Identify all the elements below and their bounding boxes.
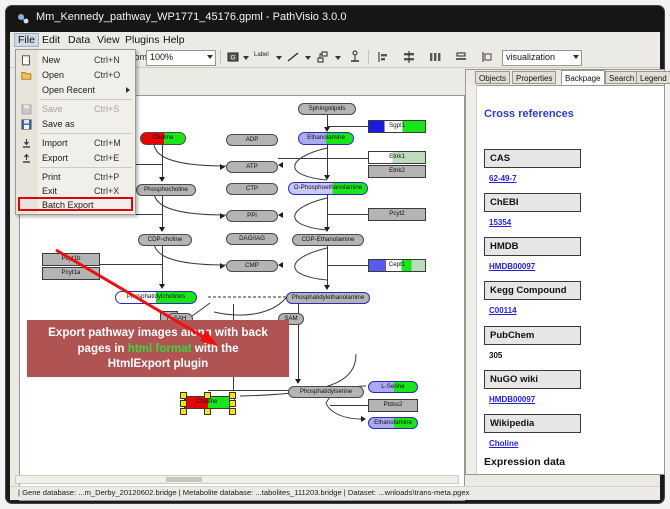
status-bar: | Gene database: ...m_Derby_20120602.bri… (10, 486, 660, 500)
menu-file[interactable]: File (14, 33, 39, 47)
cofactor-arc-r1 (275, 146, 331, 186)
xref-name: HMDB (485, 241, 519, 252)
accel: Ctrl+O (94, 70, 120, 80)
node-label: Phosphocholine (144, 187, 188, 193)
node-phosphocholine[interactable]: Phosphocholine (136, 184, 196, 196)
node-cmp[interactable]: CMP (226, 260, 278, 272)
shape-dropdown-arrow[interactable] (243, 56, 249, 60)
align-center-icon[interactable] (402, 50, 416, 64)
node-label: CDP-choline (148, 237, 183, 243)
node-sphingolipids[interactable]: Sphingolipids (298, 103, 356, 115)
cofactor-arc-r3 (275, 246, 331, 286)
xref-link-nugo[interactable]: HMDB00097 (489, 395, 535, 404)
node-label: Choline (153, 135, 174, 141)
line-icon[interactable] (286, 50, 300, 64)
menu-bar: File Edit Data View Plugins Help (10, 32, 660, 48)
selection-handle[interactable] (229, 392, 236, 399)
node-label: DAG/IAG (239, 236, 265, 242)
selection-handle[interactable] (180, 400, 187, 407)
label: Exit (42, 186, 57, 196)
accel: Ctrl+S (94, 104, 119, 114)
import-icon (21, 138, 32, 149)
canvas-hscrollbar[interactable] (15, 475, 459, 484)
node-label: Cept1 (389, 262, 406, 268)
menu-plugins[interactable]: Plugins (121, 33, 163, 47)
selection-handle[interactable] (204, 392, 211, 399)
xref-name: CAS (485, 153, 510, 164)
xref-box-pubchem: PubChem (484, 326, 581, 345)
node-etnk1[interactable]: Etnk1 (368, 151, 426, 164)
pathvisio-icon (17, 13, 29, 25)
submenu-arrow-icon (126, 87, 130, 93)
node-label: PPi (247, 213, 257, 219)
node-label: L-Serine (381, 384, 404, 390)
node-adp[interactable]: ADP (226, 134, 278, 146)
node-label: Sgpl1 (389, 123, 405, 129)
node-dag[interactable]: DAG/IAG (226, 233, 278, 245)
annotation-line3: HtmlExport plugin (108, 357, 208, 370)
backpage-content: Cross references CAS 62-49-7 ChEBI 15354… (477, 86, 657, 472)
node-ptdss2[interactable]: Ptdss2 (368, 399, 418, 412)
node-ethanolamine-2[interactable]: Ethanolamine (368, 417, 418, 429)
node-ethanolamine[interactable]: Ethanolamine (298, 132, 354, 145)
menu-edit[interactable]: Edit (38, 33, 64, 47)
node-etnk2[interactable]: Etnk2 (368, 165, 426, 178)
file-menu-print[interactable]: Print Ctrl+P (16, 170, 135, 184)
chevron-down-icon-2 (573, 55, 579, 59)
save-disk-icon (21, 104, 32, 115)
new-document-icon (21, 55, 32, 66)
xref-box-kegg: Kegg Compound (484, 281, 581, 300)
label: Open Recent (42, 85, 95, 95)
node-ctp[interactable]: CTP (226, 183, 278, 195)
file-menu-import[interactable]: Import Ctrl+M (16, 136, 135, 150)
xref-name: Kegg Compound (485, 285, 567, 296)
label-dropdown-arrow[interactable] (276, 56, 282, 60)
node-label: Phosphatidylserine (300, 389, 352, 395)
tab-legend[interactable]: Legend (636, 71, 670, 84)
node-label: Phosphatidylethanolamine (292, 295, 365, 301)
tab-search[interactable]: Search (605, 71, 638, 84)
label: Save (42, 104, 63, 114)
label: Import (42, 138, 68, 148)
callout-arrow (50, 246, 230, 356)
label-button[interactable]: Label (254, 52, 269, 58)
cofactor-arc-r2 (275, 196, 331, 236)
zoom-combo[interactable]: 100% (146, 50, 216, 66)
node-o-phosphoethanolamine[interactable]: O-Phosphoethanolamine (288, 182, 368, 195)
node-label: CTP (246, 186, 258, 192)
file-menu-save: Save Ctrl+S (16, 102, 135, 116)
chevron-down-icon (207, 55, 213, 59)
label: New (42, 55, 60, 65)
node-label: Etnk1 (389, 154, 405, 160)
cross-references-title: Cross references (484, 108, 574, 120)
node-label: Choline (197, 399, 218, 405)
panel-scrollbar[interactable] (466, 85, 477, 474)
node-sgpl1[interactable]: Sgpl1 (368, 120, 426, 133)
xref-box-chebi: ChEBI (484, 193, 581, 212)
node-label: Pcyt2 (389, 211, 404, 217)
xref-box-nugo: NuGO wiki (484, 370, 581, 389)
accel: Ctrl+E (94, 153, 119, 163)
accel: Ctrl+N (94, 55, 120, 65)
xref-box-hmdb: HMDB (484, 237, 581, 256)
file-menu-save-as[interactable]: Save as (16, 117, 135, 131)
node-label: CMP (245, 263, 259, 269)
accel: Ctrl+X (94, 186, 119, 196)
node-phosphatidylserine[interactable]: Phosphatidylserine (288, 386, 364, 398)
menu-data[interactable]: Data (64, 33, 94, 47)
node-l-serine[interactable]: L-Serine (368, 381, 418, 393)
accel: Ctrl+M (94, 138, 121, 148)
node-pcyt2[interactable]: Pcyt2 (368, 208, 426, 221)
screen: Mm_Kennedy_pathway_WP1771_45176.gpml - P… (0, 0, 670, 509)
xref-box-cas: CAS (484, 149, 581, 168)
batch-export-highlight (18, 197, 133, 211)
xref-name: PubChem (485, 330, 534, 341)
file-menu-open-recent[interactable]: Open Recent (16, 83, 135, 97)
node-label: Etnk2 (389, 168, 405, 174)
xref-name: NuGO wiki (485, 374, 538, 385)
label: Export (42, 153, 68, 163)
xref-box-wikipedia: Wikipedia (484, 414, 581, 433)
tab-backpage[interactable]: Backpage (561, 70, 605, 85)
node-label: ATP (246, 164, 258, 170)
window-title: Mm_Kennedy_pathway_WP1771_45176.gpml - P… (36, 11, 346, 23)
accel: Ctrl+P (94, 172, 119, 182)
menu-view[interactable]: View (93, 33, 124, 47)
xref-link-hmdb[interactable]: HMDB00097 (489, 262, 535, 271)
side-panel: Objects Properties Backpage Search Legen… (465, 69, 665, 475)
group-icon[interactable] (480, 50, 494, 64)
label: Open (42, 70, 64, 80)
xref-link-kegg[interactable]: C00114 (489, 306, 517, 315)
node-cdp-choline[interactable]: CDP-choline (138, 234, 192, 246)
selection-handle[interactable] (180, 392, 187, 399)
window-body: File Edit Data View Plugins Help Zoom: 1… (10, 32, 660, 499)
save-as-icon (21, 119, 32, 130)
visualization-combo[interactable]: visualization (502, 50, 582, 66)
tab-properties[interactable]: Properties (512, 71, 556, 84)
node-label: Ptdss2 (384, 402, 403, 408)
node-phosphatidylethanolamine[interactable]: Phosphatidylethanolamine (286, 292, 370, 304)
node-choline-top[interactable]: Choline (140, 132, 186, 145)
selection-handle[interactable] (204, 408, 211, 415)
selection-handle[interactable] (229, 400, 236, 407)
xref-name: ChEBI (485, 197, 519, 208)
visualization-value: visualization (506, 52, 555, 62)
distribute-icon[interactable] (428, 50, 442, 64)
connector-dropdown-arrow[interactable] (335, 56, 341, 60)
open-folder-icon (21, 70, 32, 81)
xref-link-chebi[interactable]: 15354 (489, 218, 511, 227)
application-window: Mm_Kennedy_pathway_WP1771_45176.gpml - P… (6, 6, 664, 503)
node-atp[interactable]: ATP (226, 161, 278, 173)
file-menu-export[interactable]: Export Ctrl+E (16, 151, 135, 165)
selection-handle[interactable] (229, 408, 236, 415)
tab-objects[interactable]: Objects (475, 71, 510, 84)
node-ppi[interactable]: PPi (226, 210, 278, 222)
align-left-icon[interactable] (376, 50, 390, 64)
xref-link-wikipedia[interactable]: Choline (489, 439, 518, 448)
menu-help[interactable]: Help (159, 33, 189, 47)
grid-shape-icon[interactable]: G (226, 50, 240, 64)
xref-link-cas[interactable]: 62-49-7 (489, 174, 517, 183)
node-cept1[interactable]: Cept1 (368, 259, 426, 272)
panel-tab-strip: Objects Properties Backpage Search Legen… (466, 70, 664, 86)
node-label: Ethanolamine (307, 135, 345, 141)
svg-text:G: G (231, 56, 236, 62)
status-text: | Gene database: ...m_Derby_20120602.bri… (18, 488, 469, 497)
node-label: Ethanolamine (374, 420, 412, 426)
title-bar: Mm_Kennedy_pathway_WP1771_45176.gpml - P… (6, 6, 664, 32)
anchor-icon[interactable] (348, 50, 362, 64)
expression-data-title: Expression data (484, 456, 565, 468)
node-cdp-ethanolamine[interactable]: CDP-Ethanolamine (292, 234, 364, 246)
zoom-value: 100% (150, 52, 173, 62)
label: Save as (42, 119, 75, 129)
scrollbar-thumb[interactable] (166, 477, 202, 482)
line-dropdown-arrow[interactable] (305, 56, 311, 60)
node-label: Sphingolipids (309, 106, 346, 112)
connector-icon[interactable] (316, 50, 330, 64)
node-label: O-Phosphoethanolamine (294, 185, 362, 191)
node-label: ADP (246, 137, 259, 143)
label: Print (42, 172, 61, 182)
selection-handle[interactable] (180, 408, 187, 415)
node-label: CDP-Ethanolamine (302, 237, 355, 243)
file-menu-exit[interactable]: Exit Ctrl+X (16, 184, 135, 198)
xref-value-pubchem: 305 (489, 351, 502, 360)
file-menu-popup[interactable]: New Ctrl+N Open Ctrl+O Open Recent Sav (15, 49, 136, 215)
stack-icon[interactable] (454, 50, 468, 64)
xref-name: Wikipedia (485, 418, 534, 429)
file-menu-new[interactable]: New Ctrl+N (16, 53, 135, 67)
file-menu-open[interactable]: Open Ctrl+O (16, 68, 135, 82)
export-icon (21, 153, 32, 164)
